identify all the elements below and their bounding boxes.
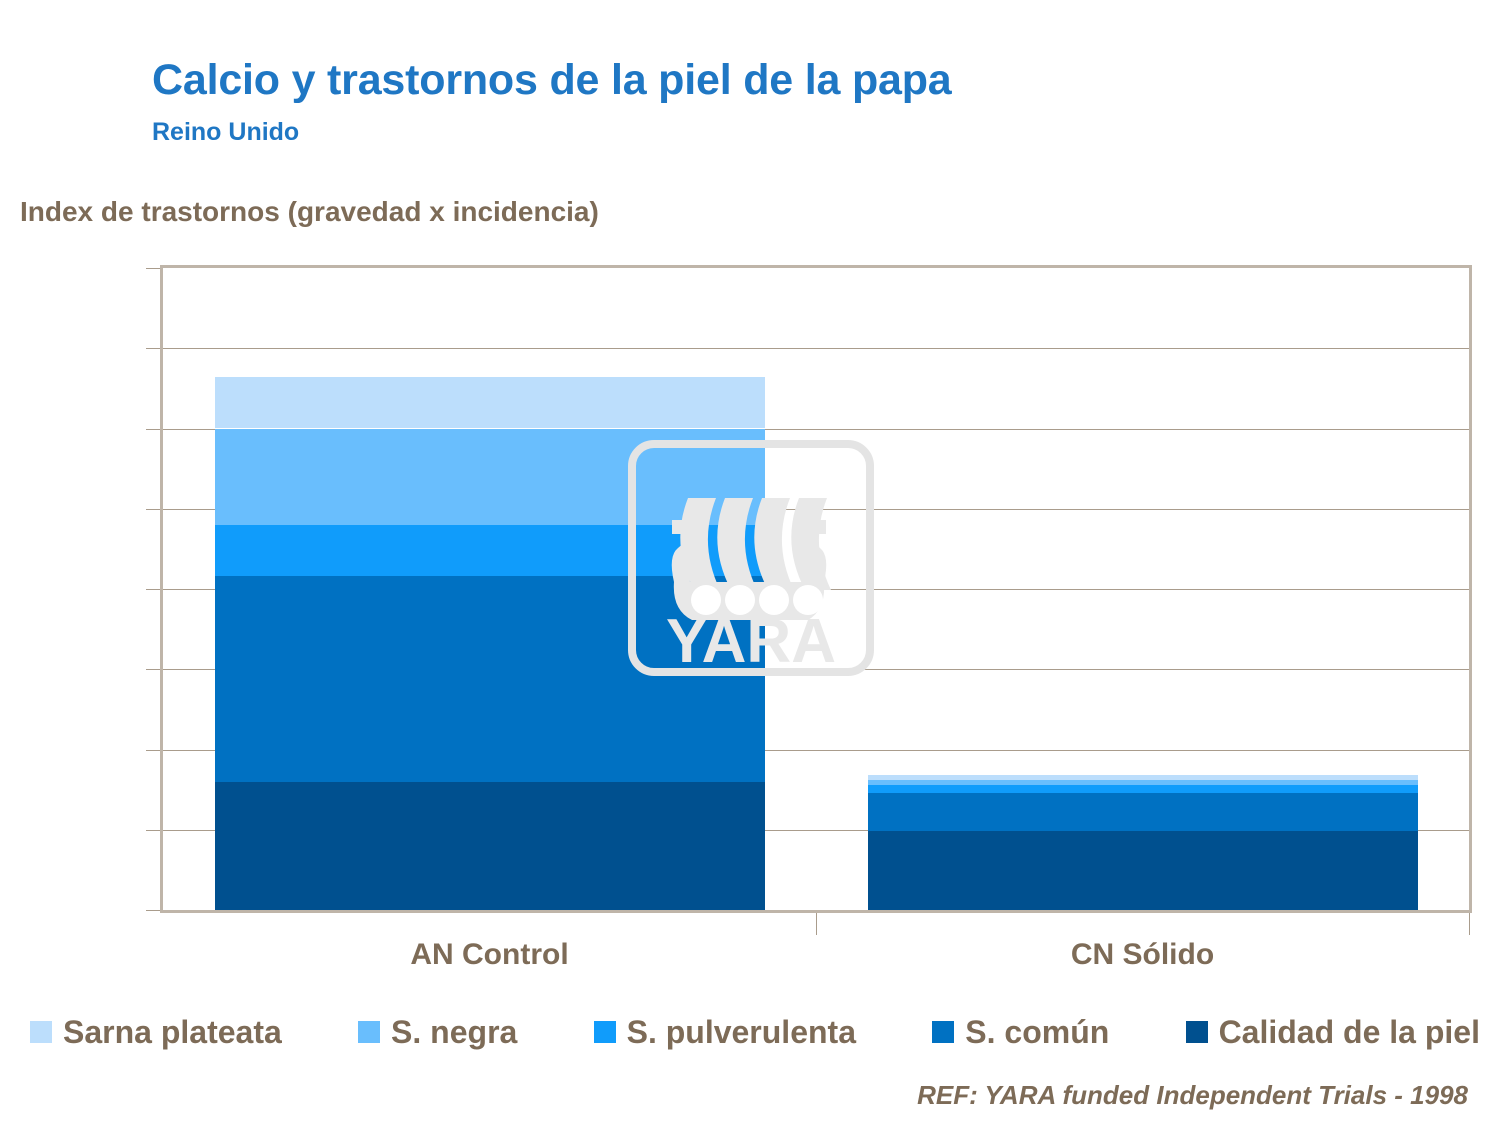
chart-subtitle: Reino Unido [152,118,299,147]
chart-title: Calcio y trastornos de la piel de la pap… [152,56,952,105]
bar-segment[interactable] [868,831,1418,910]
chart-canvas: Calcio y trastornos de la piel de la pap… [0,0,1500,1125]
x-axis-tick [1469,913,1470,935]
bar-segment[interactable] [215,525,765,576]
legend-item[interactable]: Sarna plateata [30,1016,282,1048]
y-axis: 0510152025303540 [0,0,160,1125]
y-tick-mark [146,509,160,510]
legend-swatch-icon [594,1021,616,1043]
legend-item[interactable]: S. negra [358,1016,517,1048]
bar-segment[interactable] [215,429,765,525]
legend-label: S. negra [391,1016,517,1048]
legend-label: S. común [965,1016,1109,1048]
bar-segment[interactable] [215,782,765,910]
bar-segment[interactable] [868,775,1418,780]
legend-swatch-icon [30,1021,52,1043]
y-tick-mark [146,348,160,349]
x-axis-category-label: AN Control [190,938,790,972]
y-tick-mark [146,669,160,670]
y-tick-mark [146,268,160,269]
bar-stack[interactable] [868,268,1418,910]
y-tick-mark [146,750,160,751]
y-tick-mark [146,830,160,831]
bar-segment[interactable] [868,780,1418,785]
bar-segment[interactable] [215,377,765,428]
legend-label: Sarna plateata [63,1016,282,1048]
legend-swatch-icon [932,1021,954,1043]
legend-swatch-icon [358,1021,380,1043]
legend-label: S. pulverulenta [627,1016,856,1048]
bar-segment[interactable] [868,785,1418,793]
plot-area [160,265,1472,913]
legend-label: Calidad de la piel [1219,1016,1480,1048]
reference-note: REF: YARA funded Independent Trials - 19… [917,1080,1468,1111]
y-tick-mark [146,589,160,590]
bar-segment[interactable] [215,576,765,781]
bar-segment[interactable] [868,793,1418,832]
legend-swatch-icon [1186,1021,1208,1043]
y-tick-mark [146,910,160,911]
legend-item[interactable]: S. común [932,1016,1109,1048]
legend: Sarna plateataS. negraS. pulverulentaS. … [30,1008,1480,1056]
bar-stack[interactable] [215,268,765,910]
legend-item[interactable]: Calidad de la piel [1186,1016,1480,1048]
y-tick-mark [146,429,160,430]
x-axis-category-label: CN Sólido [843,938,1443,972]
x-axis-tick [816,913,817,935]
legend-item[interactable]: S. pulverulenta [594,1016,856,1048]
